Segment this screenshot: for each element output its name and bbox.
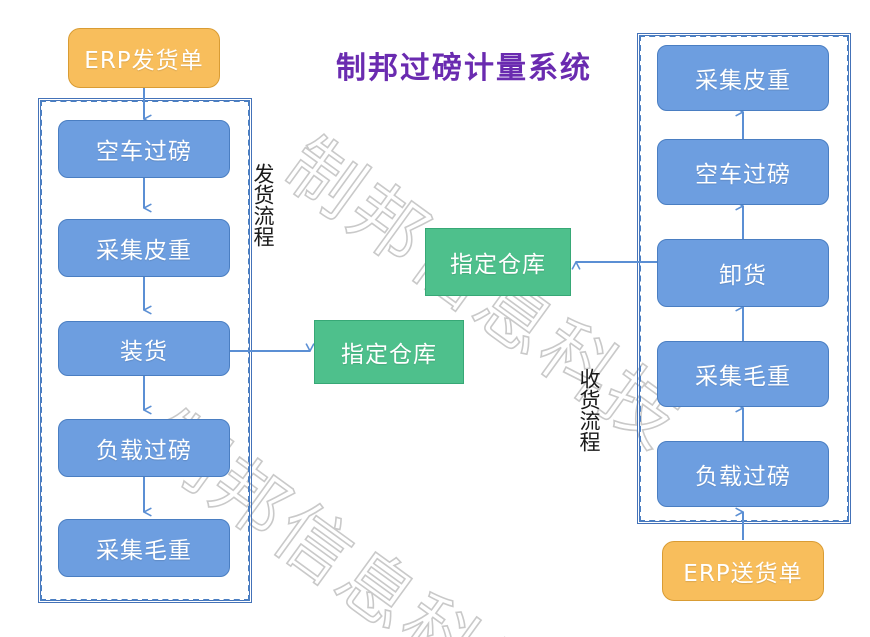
node-right-loaded-weighing[interactable]: 负载过磅	[657, 441, 829, 507]
node-left-empty-vehicle-weighing[interactable]: 空车过磅	[58, 120, 230, 178]
node-erp-delivery-order[interactable]: ERP送货单	[662, 541, 824, 601]
node-right-collect-tare-weight[interactable]: 采集皮重	[657, 45, 829, 111]
node-left-collect-gross-weight[interactable]: 采集毛重	[58, 519, 230, 577]
diagram-canvas: 制邦信息科技 制邦信息科技 发货流程 收货流程 制邦过磅计量系统	[0, 0, 870, 637]
node-left-collect-tare-weight[interactable]: 采集皮重	[58, 219, 230, 277]
node-erp-shipping-order[interactable]: ERP发货单	[68, 28, 220, 88]
node-right-empty-vehicle-weighing[interactable]: 空车过磅	[657, 139, 829, 205]
node-designated-warehouse-upper[interactable]: 指定仓库	[425, 228, 571, 296]
node-right-unloading[interactable]: 卸货	[657, 239, 829, 307]
node-left-loading[interactable]: 装货	[58, 321, 230, 376]
node-right-collect-gross-weight[interactable]: 采集毛重	[657, 341, 829, 407]
node-designated-warehouse-lower[interactable]: 指定仓库	[314, 320, 464, 384]
node-left-loaded-weighing[interactable]: 负载过磅	[58, 419, 230, 477]
